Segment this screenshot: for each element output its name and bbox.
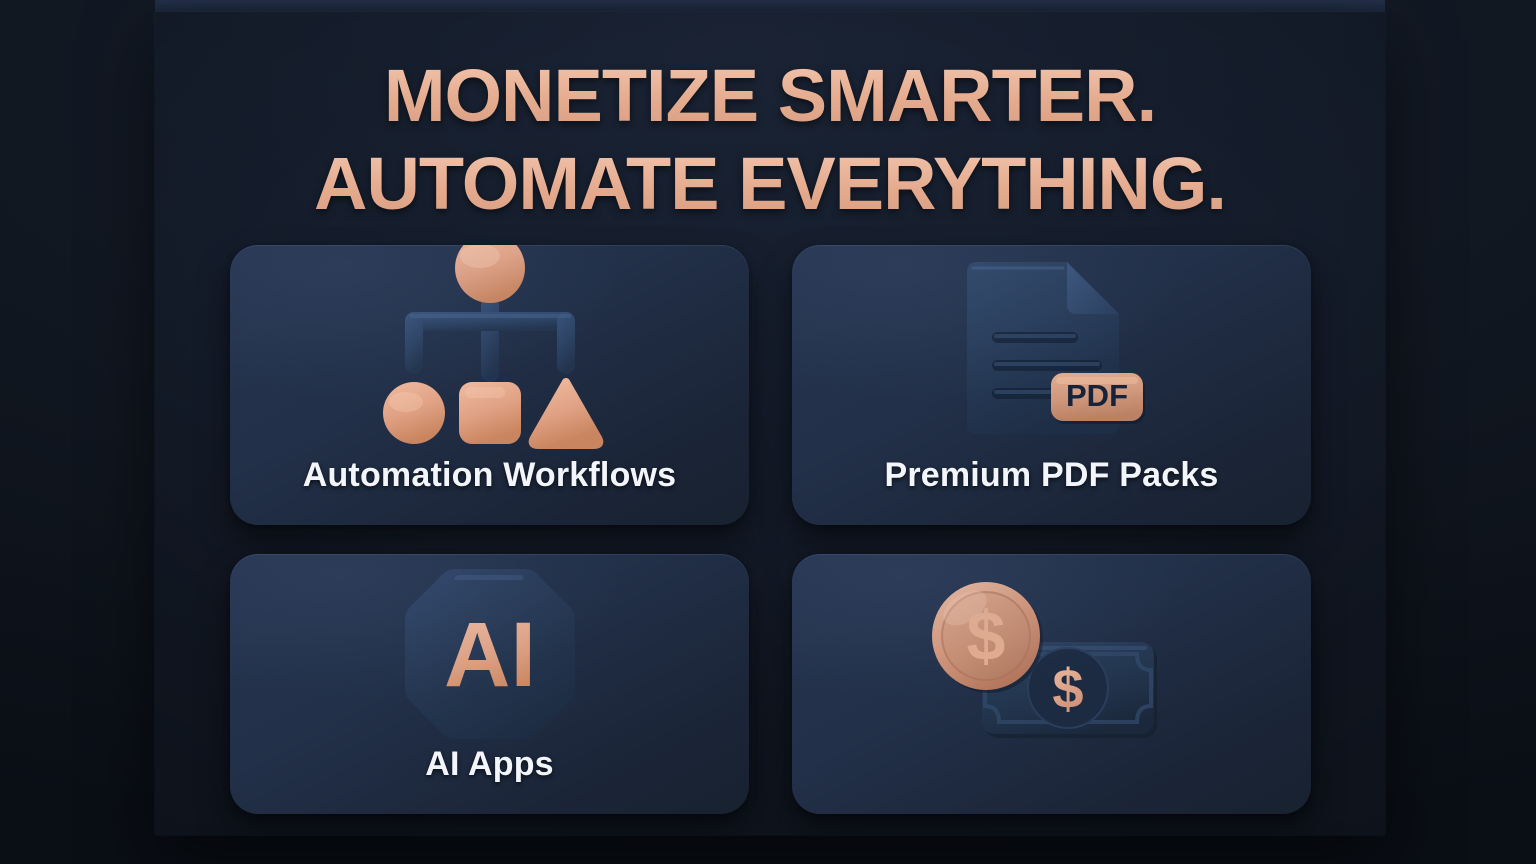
page-title-line-1: MONETIZE SMARTER. bbox=[155, 52, 1385, 140]
pdf-document-icon: PDF bbox=[959, 258, 1145, 448]
card-label-premium-pdf-packs: Premium PDF Packs bbox=[884, 455, 1218, 525]
content-panel: MONETIZE SMARTER. AUTOMATE EVERYTHING. bbox=[155, 12, 1385, 835]
coin-dollar-sign: $ bbox=[966, 597, 1005, 675]
ai-octagon-icon: AI bbox=[402, 566, 578, 742]
card-monetization[interactable]: $ $ bbox=[792, 554, 1311, 814]
card-automation-workflows[interactable]: Automation Workflows bbox=[230, 245, 749, 525]
ai-glyph-text: AI bbox=[444, 604, 536, 706]
pdf-badge-text: PDF bbox=[1066, 378, 1128, 413]
card-label-ai-apps: AI Apps bbox=[425, 744, 554, 814]
card-label-automation-workflows: Automation Workflows bbox=[303, 455, 677, 525]
app-stage: MONETIZE SMARTER. AUTOMATE EVERYTHING. bbox=[0, 0, 1536, 864]
pdf-document-icon-wrap: PDF bbox=[792, 245, 1311, 455]
workflow-tree-icon bbox=[385, 254, 595, 454]
workflow-tree-icon-wrap bbox=[230, 245, 749, 455]
banknote-dollar-sign: $ bbox=[1052, 657, 1083, 720]
page-title: MONETIZE SMARTER. AUTOMATE EVERYTHING. bbox=[155, 52, 1385, 228]
panel-top-strip bbox=[155, 0, 1385, 12]
card-ai-apps[interactable]: AI AI Apps bbox=[230, 554, 749, 814]
coin-and-banknote-icon-wrap: $ $ bbox=[792, 554, 1311, 814]
page-title-line-2: AUTOMATE EVERYTHING. bbox=[155, 140, 1385, 228]
coin-and-banknote-icon: $ $ bbox=[927, 584, 1177, 784]
coin-shape: $ bbox=[932, 582, 1043, 693]
card-premium-pdf-packs[interactable]: PDF Premium PDF Packs bbox=[792, 245, 1311, 525]
ai-octagon-icon-wrap: AI bbox=[230, 554, 749, 744]
feature-card-grid: Automation Workflows bbox=[230, 245, 1310, 814]
